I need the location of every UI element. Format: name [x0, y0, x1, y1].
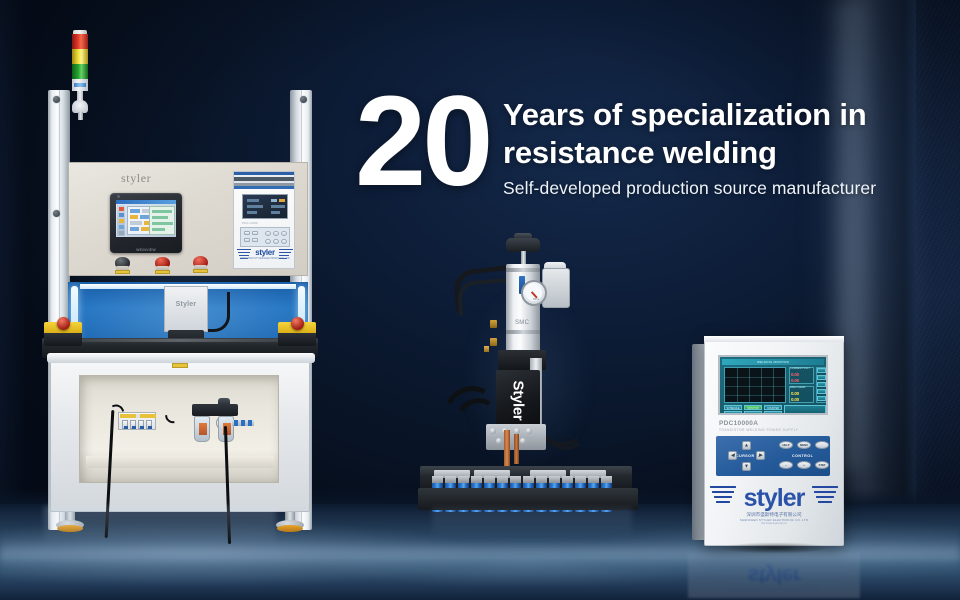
breaker-switch[interactable]	[146, 420, 152, 429]
cylinder-band	[506, 330, 540, 334]
hmi-status-bar	[152, 210, 172, 213]
lcd-side-button[interactable]	[817, 375, 826, 380]
hmi-vendor-label: WEINVIEW	[136, 248, 156, 252]
air-outlet-pipe	[232, 420, 254, 426]
cabinet-cable	[161, 399, 189, 427]
estop-black-base	[44, 333, 82, 346]
hmi-cell	[130, 215, 138, 219]
brand-logo: styler 深圳市盛斯特电子有限公司 SHENZHEN STYLER ELEC…	[710, 482, 838, 526]
hmi-status-bar	[152, 216, 168, 219]
controller-keypad[interactable]	[240, 227, 290, 247]
filter-bowl	[194, 416, 210, 442]
left-machine-reflection	[44, 506, 276, 558]
cabinet-shelf	[86, 456, 274, 468]
hmi-status-bar	[152, 228, 165, 231]
lcd-readout-label: CURRENT/VOLT	[790, 367, 810, 370]
lcd-side-button[interactable]	[817, 368, 826, 373]
brass-fitting	[490, 320, 497, 328]
base-plate	[418, 488, 638, 510]
cursor-up-button[interactable]: ▲	[742, 441, 751, 450]
control-keypad[interactable]: CURSOR ▲ ◀ ▶ ▼ CONTROL HELP MENU − + STE…	[716, 436, 830, 476]
controller-top-stripes	[234, 172, 294, 189]
hmi-power-led	[117, 195, 120, 198]
lcd-soft-button[interactable]: MONITOR	[744, 405, 762, 410]
hmi-side-icon	[119, 231, 124, 235]
emergency-stop-right[interactable]	[278, 322, 316, 346]
cursor-left-button[interactable]: ◀	[728, 451, 737, 460]
button-label-tag	[155, 270, 170, 274]
lower-electrical-cabinet	[50, 358, 310, 512]
manual-lever-arm-secondary	[457, 278, 509, 315]
lcd-title-text: WELDING MONITOR	[722, 359, 824, 365]
air-filter-regulator-lubricator	[192, 404, 238, 448]
power-supply-model-subtitle: TRANSISTOR WELDING POWER SUPPLY	[719, 428, 798, 432]
headline-text: Years of specialization in resistance we…	[503, 96, 915, 172]
lcd-readout-value: 0.00	[791, 372, 799, 377]
lcd-soft-button[interactable]: SCHEDULE	[724, 405, 742, 410]
banner-stage: 20 Years of specialization in resistance…	[0, 0, 960, 600]
welder-body-brand-text: Styler	[509, 380, 526, 420]
welding-power-supply: WELDING MONITOR CURRENT/VOLT 0.00 0.00 W…	[692, 336, 844, 548]
hmi-status-area	[149, 206, 175, 235]
estop-mushroom-button[interactable]	[291, 317, 304, 330]
estop-black-base	[278, 333, 316, 346]
cylinder-rod	[521, 251, 526, 265]
copper-electrode	[514, 434, 519, 464]
emergency-stop-left[interactable]	[44, 322, 82, 346]
logo-stripes-left	[710, 486, 736, 508]
hmi-side-icon	[119, 207, 124, 211]
inline-welding-controller[interactable]: PDC-1000	[233, 171, 295, 269]
leveling-foot	[276, 512, 304, 534]
center-welder-reflection	[432, 508, 632, 548]
reflection-sub: SHENZHEN STYLER ELECTRONIC CO.,LTD	[688, 587, 860, 592]
flr-manifold	[192, 404, 238, 416]
lcd-side-button[interactable]	[817, 389, 826, 394]
stack-light-buzzer-band	[74, 83, 86, 87]
step-button[interactable]: STEP	[815, 461, 829, 469]
lcd-soft-button[interactable]: COUNTER	[764, 405, 782, 410]
decrement-button[interactable]: −	[779, 461, 793, 469]
stack-light-yellow	[72, 49, 88, 64]
pneumatic-cylinder: SMC	[506, 264, 540, 356]
lcd-side-button[interactable]	[817, 382, 826, 387]
logo-stripes-right	[812, 486, 838, 508]
stack-light-red	[72, 34, 88, 49]
anniversary-number: 20	[355, 78, 489, 206]
hmi-side-icon	[119, 225, 124, 229]
lcd-soft-button[interactable]: SYSTEM	[764, 411, 782, 415]
cursor-right-button[interactable]: ▶	[756, 451, 765, 460]
upper-control-panel: styler	[68, 162, 308, 276]
hmi-side-icon	[119, 213, 124, 217]
power-supply-model: PDC10000A	[719, 420, 758, 427]
brand-logo-url: http://www.styler.com.cn	[761, 522, 787, 525]
controller-brand-logo: styler SHENZHEN STYLER ELECTRONIC CO.,LT…	[237, 247, 293, 265]
control-group-label: CONTROL	[792, 454, 813, 458]
copper-electrode	[504, 430, 510, 466]
controller-model-text: PDC-1000	[242, 221, 258, 225]
power-supply-top-edge	[704, 336, 844, 342]
hmi-screen[interactable]	[116, 200, 176, 237]
estop-mushroom-button[interactable]	[57, 317, 70, 330]
lcd-readout-label: WELD HEAD	[790, 386, 805, 389]
weld-head-housing: Styler	[164, 286, 208, 332]
worktop-highlight	[50, 339, 310, 342]
headline-line-1: Years of specialization in	[503, 96, 915, 134]
cursor-group-label: CURSOR	[736, 454, 755, 458]
breaker-switch[interactable]	[138, 420, 144, 429]
stop-button[interactable]	[155, 257, 170, 274]
cabinet-top-lip	[47, 353, 315, 363]
electrode-nut	[520, 438, 526, 444]
foot-ring	[277, 525, 303, 532]
lcd-waveform-area	[724, 367, 786, 403]
weld-head-label: Styler	[176, 301, 197, 308]
hmi-cell	[130, 227, 139, 231]
electrode-nut	[490, 428, 496, 434]
cylinder-adjust-knob[interactable]	[506, 238, 540, 252]
pressure-gauge: MPa	[521, 280, 547, 306]
lcd-display[interactable]: WELDING MONITOR CURRENT/VOLT 0.00 0.00 W…	[718, 355, 828, 415]
lcd-readout-value: 0.00	[791, 397, 799, 402]
panel-brand-label: styler	[121, 171, 151, 186]
stack-light-green	[72, 64, 88, 79]
headline-line-2: resistance welding	[503, 134, 915, 172]
cylinder-band	[506, 268, 540, 272]
center-welding-head: SMC MPa Styler	[428, 238, 628, 538]
hmi-cell	[130, 209, 140, 213]
button-label-tag	[115, 270, 130, 274]
cabinet-label-tag	[172, 363, 188, 368]
floor-logo-reflection: SHENZHEN STYLER ELECTRONIC CO.,LTD style…	[688, 552, 860, 598]
hmi-cell	[130, 221, 142, 225]
hmi-status-bar	[152, 222, 173, 225]
help-button[interactable]: HELP	[779, 441, 793, 449]
breaker-switch[interactable]	[130, 420, 136, 429]
menu-button[interactable]: MENU	[797, 441, 811, 449]
controller-logo-text: styler	[255, 248, 275, 257]
lcd-readout-value: 0.00	[791, 391, 799, 396]
headline-subtitle: Self-developed production source manufac…	[503, 178, 876, 199]
left-welding-station: styler	[40, 28, 320, 548]
breaker-label-strip	[120, 414, 156, 418]
lcd-titlebar: WELDING MONITOR	[722, 359, 824, 365]
lcd-readout-value: 0.00	[791, 378, 799, 383]
lcd-soft-button[interactable]: I/O CHECK	[724, 411, 742, 415]
increment-button[interactable]: +	[797, 461, 811, 469]
frame-bolt	[53, 210, 60, 217]
headline-block: 20 Years of specialization in resistance…	[355, 82, 915, 212]
frame-bolt	[300, 96, 307, 103]
hmi-sidebar	[117, 205, 125, 236]
lcd-side-button[interactable]	[817, 396, 826, 401]
hmi-titlebar	[116, 200, 176, 204]
blank-button[interactable]	[815, 441, 829, 449]
frame-bolt	[53, 96, 60, 103]
electrode-nut	[526, 428, 532, 434]
controller-logo-sub: SHENZHEN STYLER ELECTRONIC CO.,LTD	[240, 257, 289, 260]
lcd-soft-button[interactable]: CALIBRATE	[744, 411, 762, 415]
lcd-status-bar	[784, 405, 826, 415]
gauge-unit-label: MPa	[527, 297, 545, 301]
cursor-down-button[interactable]: ▼	[742, 462, 751, 471]
reflection-text: styler	[688, 563, 860, 587]
button-label-tag	[193, 269, 208, 273]
brand-logo-text: styler	[744, 484, 805, 513]
brass-fitting	[490, 338, 497, 346]
start-button[interactable]	[115, 257, 130, 274]
electrode-nut	[496, 438, 502, 444]
cylinder-brand-text: SMC	[515, 320, 529, 326]
hmi-side-icon	[119, 219, 124, 223]
brass-nipple	[484, 346, 489, 352]
hmi-touch-panel[interactable]: WEINVIEW	[110, 193, 182, 253]
controller-display	[242, 194, 288, 219]
emergency-stop-button[interactable]	[193, 256, 208, 273]
